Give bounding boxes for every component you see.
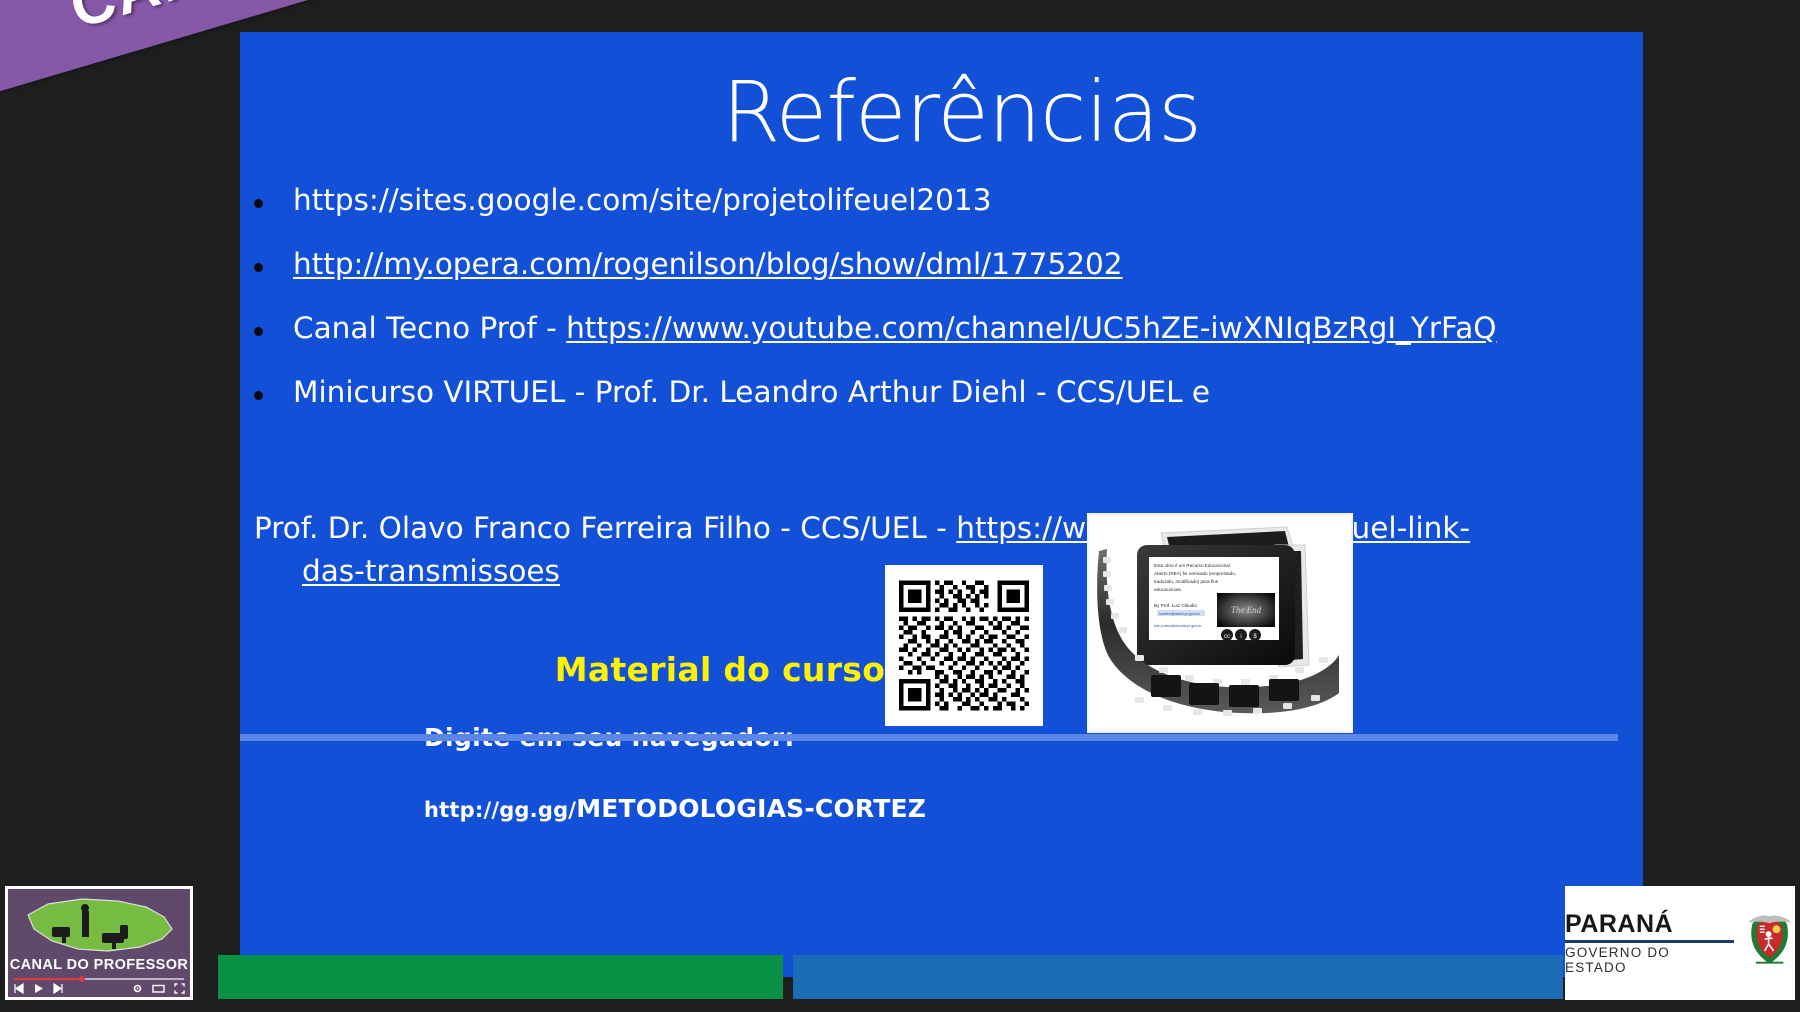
material-url-host: gg.gg/ xyxy=(499,798,576,822)
list-item: http://my.opera.com/rogenilson/blog/show… xyxy=(254,248,1634,282)
bullet-dot-icon xyxy=(254,327,263,336)
svg-text:The End: The End xyxy=(1231,605,1262,615)
reference-text-2: http://my.opera.com/rogenilson/blog/show… xyxy=(293,248,1634,282)
next-icon[interactable] xyxy=(53,983,64,994)
parana-map-icon xyxy=(22,895,180,957)
divider xyxy=(240,734,1618,741)
parana-logo: PARANÁ GOVERNO DO ESTADO xyxy=(1565,886,1795,1000)
fullscreen-icon[interactable] xyxy=(174,983,185,994)
gear-icon[interactable] xyxy=(132,983,143,994)
rea-film-image: Esta obra é um Recurso Educacional Abert… xyxy=(1087,513,1353,733)
material-url-scheme: http:// xyxy=(424,798,499,822)
svg-text:cc: cc xyxy=(1224,634,1230,640)
paragraph-text: Prof. Dr. Olavo Franco Ferreira Filho - … xyxy=(254,511,956,545)
screen: Referências https://sites.google.com/sit… xyxy=(0,0,1800,1012)
theater-mode-icon[interactable] xyxy=(152,983,165,994)
parana-logo-name: PARANÁ xyxy=(1565,912,1734,937)
svg-text:Esta obra é um Recurso Educaci: Esta obra é um Recurso Educacional xyxy=(1154,563,1230,568)
slide-canvas: Referências https://sites.google.com/sit… xyxy=(240,32,1643,977)
prev-icon[interactable] xyxy=(13,983,24,994)
bullet-dot-icon xyxy=(254,263,263,272)
reference-list: https://sites.google.com/site/projetolif… xyxy=(254,184,1634,440)
list-item: Minicurso VIRTUEL - Prof. Dr. Leandro Ar… xyxy=(254,376,1634,410)
footer-bar-green xyxy=(218,955,783,999)
svg-text:luiz.cortez@escola.pr.gov.br: luiz.cortez@escola.pr.gov.br xyxy=(1154,624,1202,628)
labted-link-part2[interactable]: das-transmissoes xyxy=(254,554,560,588)
video-thumbnail-inner: CANAL DO PROFESSOR xyxy=(8,889,190,997)
svg-text:i: i xyxy=(1240,634,1241,640)
video-progress-fill xyxy=(14,978,79,980)
svg-text:lcortez@seed.pr.gov.br: lcortez@seed.pr.gov.br xyxy=(1159,611,1201,616)
reference-link-3[interactable]: https://www.youtube.com/channel/UC5hZE-i… xyxy=(566,311,1496,345)
parana-logo-subtitle: GOVERNO DO ESTADO xyxy=(1565,945,1734,975)
qr-code-image xyxy=(885,565,1043,726)
reference-text-1: https://sites.google.com/site/projetolif… xyxy=(293,184,1634,218)
video-controls xyxy=(13,981,185,995)
svg-text:Aberto (REA) foi remixado (emp: Aberto (REA) foi remixado (emprestado, xyxy=(1154,571,1236,576)
bullet-dot-icon xyxy=(254,391,263,400)
list-item: Canal Tecno Prof - https://www.youtube.c… xyxy=(254,312,1634,346)
material-url-path: METODOLOGIAS-CORTEZ xyxy=(576,794,926,823)
page-title: Referências xyxy=(240,70,1643,154)
reference-text-3: Canal Tecno Prof - https://www.youtube.c… xyxy=(293,312,1634,346)
list-item: https://sites.google.com/site/projetolif… xyxy=(254,184,1634,218)
svg-text:traduzido, modificado) para: traduzido, modificado) para fins xyxy=(1154,579,1219,584)
video-progress-bar[interactable] xyxy=(14,978,184,980)
footer-bar-blue xyxy=(793,955,1563,999)
svg-text:educacionais.: educacionais. xyxy=(1154,587,1182,592)
parana-coat-of-arms-icon xyxy=(1744,912,1795,974)
reference-prefix-3: Canal Tecno Prof - xyxy=(293,311,566,345)
reference-link-1[interactable]: https://sites.google.com/site/projetolif… xyxy=(293,183,991,217)
play-icon[interactable] xyxy=(33,983,44,994)
parana-logo-rule xyxy=(1565,940,1734,943)
video-title: CANAL DO PROFESSOR xyxy=(8,957,190,973)
bullet-dot-icon xyxy=(254,199,263,208)
reference-link-2[interactable]: http://my.opera.com/rogenilson/blog/show… xyxy=(293,247,1123,281)
video-thumbnail[interactable]: CANAL DO PROFESSOR xyxy=(5,886,193,1000)
svg-text:By Prof. Luiz Cláudio: By Prof. Luiz Cláudio xyxy=(1154,603,1197,608)
footer-background xyxy=(0,999,1800,1012)
reference-text-4: Minicurso VIRTUEL - Prof. Dr. Leandro Ar… xyxy=(293,376,1634,410)
material-url[interactable]: http://gg.gg/METODOLOGIAS-CORTEZ xyxy=(424,794,1040,823)
